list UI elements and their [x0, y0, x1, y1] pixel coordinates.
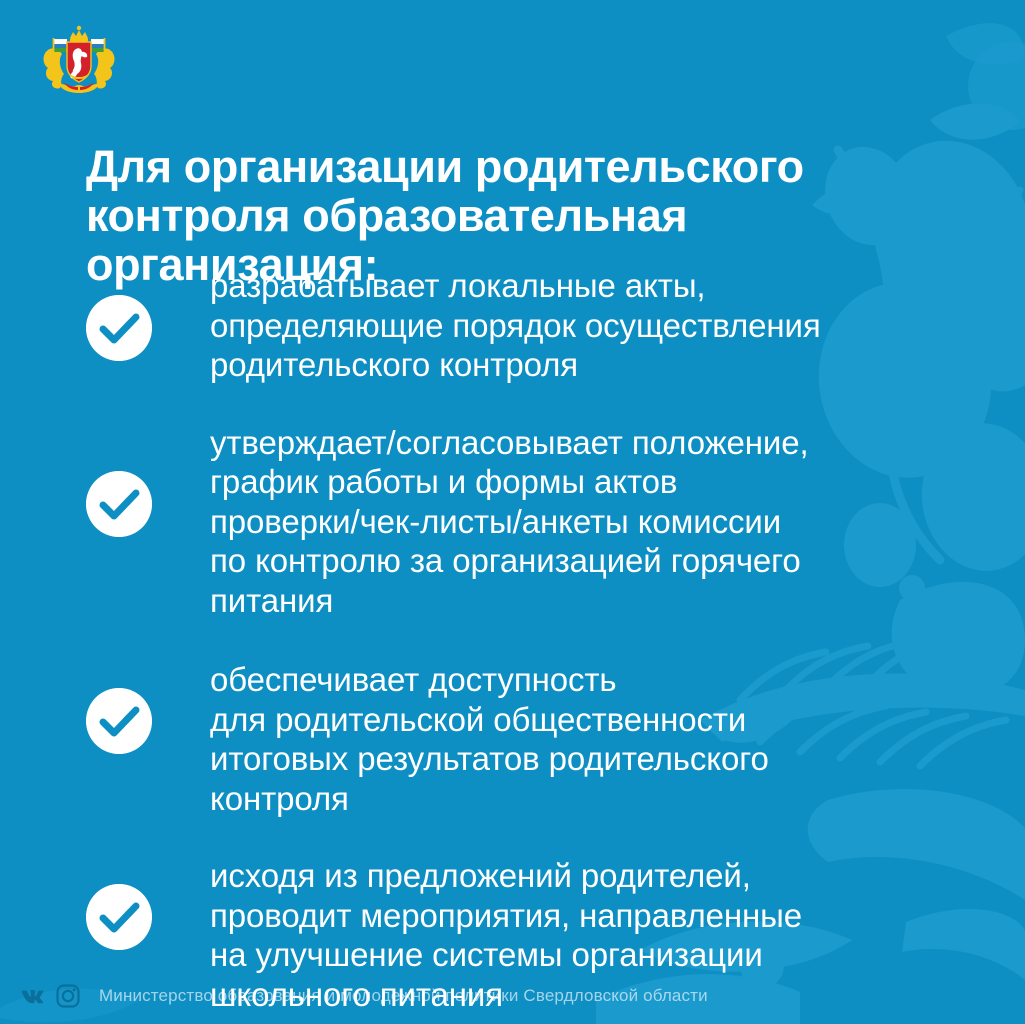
text-line: по контролю за организацией горячего [210, 541, 966, 581]
text-line: родительского контроля [210, 345, 966, 385]
check-icon-wrapper [86, 854, 210, 950]
text-line: исходя из предложений родителей, [210, 856, 966, 896]
text-line: определяющие порядок осуществления [210, 306, 966, 346]
requirements-list: разрабатывает локальные акты, определяющ… [86, 266, 966, 1014]
check-icon-wrapper [86, 658, 210, 754]
check-circle-icon [86, 884, 152, 950]
ministry-label: Министерство образования и молодежной по… [99, 986, 708, 1006]
check-circle-icon [86, 688, 152, 754]
text-line: обеспечивает доступность [210, 660, 966, 700]
social-links [20, 983, 81, 1009]
text-line: график работы и формы актов [210, 462, 966, 502]
text-line: утверждает/согласовывает положение, [210, 423, 966, 463]
text-line: для родительской общественности [210, 700, 966, 740]
vk-icon[interactable] [20, 983, 46, 1009]
poster-canvas: Для организации родительского контроля о… [0, 0, 1025, 1024]
text-line: проверки/чек-листы/анкеты комиссии [210, 502, 966, 542]
sverdlovsk-coat-of-arms-icon [40, 24, 118, 94]
check-circle-icon [86, 471, 152, 537]
instagram-icon[interactable] [55, 983, 81, 1009]
list-item-text: утверждает/согласовывает положение, граф… [210, 421, 966, 621]
list-item-text: обеспечивает доступность для родительско… [210, 658, 966, 818]
list-item-text: разрабатывает локальные акты, определяющ… [210, 266, 966, 385]
footer-bar: Министерство образования и молодежной по… [0, 968, 1025, 1024]
check-icon-wrapper [86, 266, 210, 361]
list-item: утверждает/согласовывает положение, граф… [86, 421, 966, 621]
text-line: контроля [210, 779, 966, 819]
heading-line: контроля образовательная [86, 191, 946, 240]
check-circle-icon [86, 295, 152, 361]
text-line: питания [210, 581, 966, 621]
check-icon-wrapper [86, 421, 210, 537]
list-item: обеспечивает доступность для родительско… [86, 658, 966, 818]
text-line: проводит мероприятия, направленные [210, 896, 966, 936]
text-line: разрабатывает локальные акты, [210, 266, 966, 306]
list-item: разрабатывает локальные акты, определяющ… [86, 266, 966, 385]
heading-line: Для организации родительского [86, 142, 946, 191]
text-line: итоговых результатов родительского [210, 739, 966, 779]
